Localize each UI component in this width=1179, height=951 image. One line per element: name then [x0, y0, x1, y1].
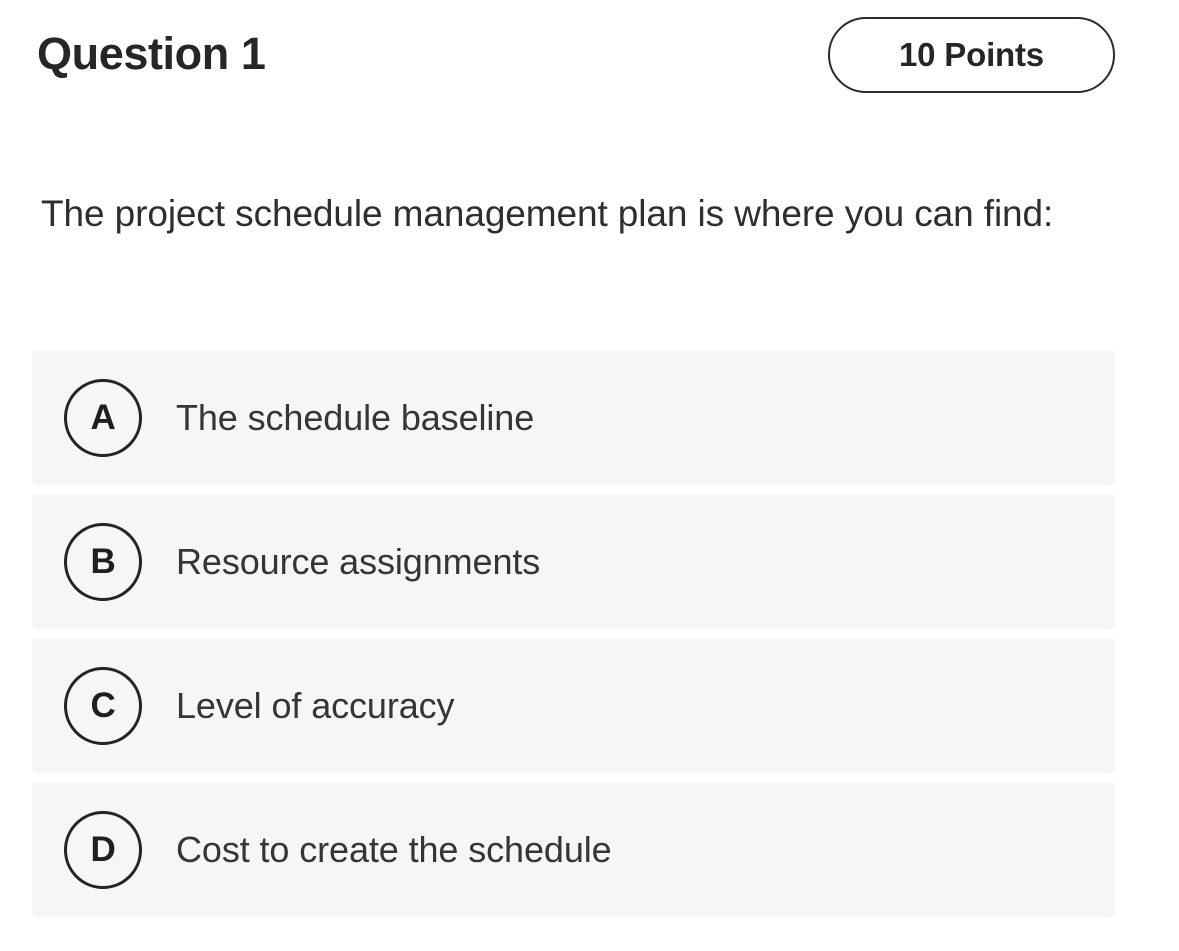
option-letter-a: A: [91, 400, 116, 435]
answer-option-b[interactable]: B Resource assignments: [32, 494, 1115, 629]
option-label-d: Cost to create the schedule: [176, 829, 612, 871]
option-letter-circle-icon: D: [64, 811, 142, 889]
question-header: Question 1 10 Points: [0, 0, 1179, 110]
option-letter-c: C: [91, 688, 116, 723]
answer-option-a[interactable]: A The schedule baseline: [32, 350, 1115, 485]
option-letter-b: B: [91, 544, 116, 579]
question-body: The project schedule management plan is …: [41, 180, 1101, 247]
quiz-question-page: Question 1 10 Points The project schedul…: [0, 0, 1179, 951]
question-text: The project schedule management plan is …: [41, 180, 1101, 247]
option-letter-circle-icon: B: [64, 523, 142, 601]
option-letter-circle-icon: A: [64, 379, 142, 457]
page-title: Question 1: [37, 26, 266, 82]
answer-option-d[interactable]: D Cost to create the schedule: [32, 782, 1115, 917]
option-label-b: Resource assignments: [176, 541, 540, 583]
option-label-a: The schedule baseline: [176, 397, 534, 439]
option-letter-circle-icon: C: [64, 667, 142, 745]
points-badge: 10 Points: [828, 17, 1115, 93]
answer-options-list: A The schedule baseline B Resource assig…: [32, 350, 1115, 926]
option-letter-d: D: [91, 832, 116, 867]
points-badge-label: 10 Points: [899, 36, 1044, 74]
option-label-c: Level of accuracy: [176, 685, 454, 727]
answer-option-c[interactable]: C Level of accuracy: [32, 638, 1115, 773]
